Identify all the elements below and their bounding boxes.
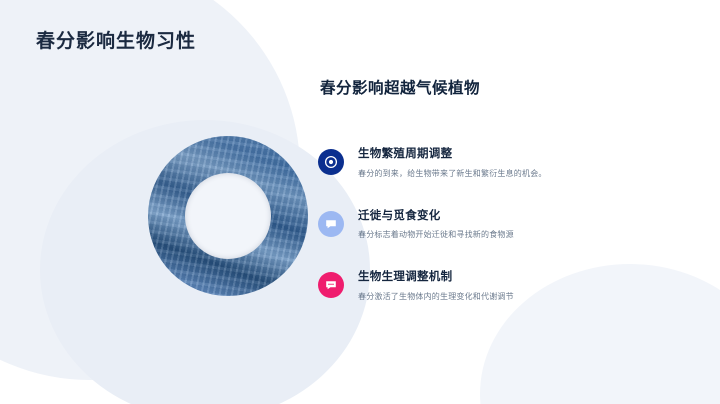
feature-list: 生物繁殖周期调整 春分的到来，给生物带来了新生和繁衍生息的机会。 迁徙与觅食变化… — [318, 148, 688, 303]
chat-dots-icon — [318, 272, 344, 298]
list-item-desc: 春分标志着动物开始迁徙和寻找新的食物源 — [358, 230, 514, 241]
content-panel: 春分影响超越气候植物 生物繁殖周期调整 春分的到来，给生物带来了新生和繁衍生息的… — [318, 76, 688, 303]
list-item: 生物生理调整机制 春分激活了生物体内的生理变化和代谢调节 — [318, 271, 688, 303]
donut-hole — [185, 173, 271, 259]
page-title: 春分影响生物习性 — [36, 26, 196, 53]
list-item-title: 生物生理调整机制 — [358, 271, 514, 285]
slide: 春分影响生物习性 春分影响超越气候植物 生物繁殖周期调整 春分的到来，给生物带来… — [0, 0, 720, 404]
chat-bubble-icon — [318, 211, 344, 237]
list-item-text: 生物生理调整机制 春分激活了生物体内的生理变化和代谢调节 — [358, 271, 514, 303]
list-item-title: 生物繁殖周期调整 — [358, 148, 547, 162]
target-circle-icon — [318, 149, 344, 175]
list-item: 迁徙与觅食变化 春分标志着动物开始迁徙和寻找新的食物源 — [318, 210, 688, 242]
list-item: 生物繁殖周期调整 春分的到来，给生物带来了新生和繁衍生息的机会。 — [318, 148, 688, 180]
city-buildings-donut-image — [148, 136, 308, 296]
list-item-text: 生物繁殖周期调整 春分的到来，给生物带来了新生和繁衍生息的机会。 — [358, 148, 547, 180]
list-item-desc: 春分激活了生物体内的生理变化和代谢调节 — [358, 292, 514, 303]
list-item-desc: 春分的到来，给生物带来了新生和繁衍生息的机会。 — [358, 169, 547, 180]
list-item-text: 迁徙与觅食变化 春分标志着动物开始迁徙和寻找新的食物源 — [358, 210, 514, 242]
content-title: 春分影响超越气候植物 — [320, 76, 688, 98]
list-item-title: 迁徙与觅食变化 — [358, 210, 514, 224]
